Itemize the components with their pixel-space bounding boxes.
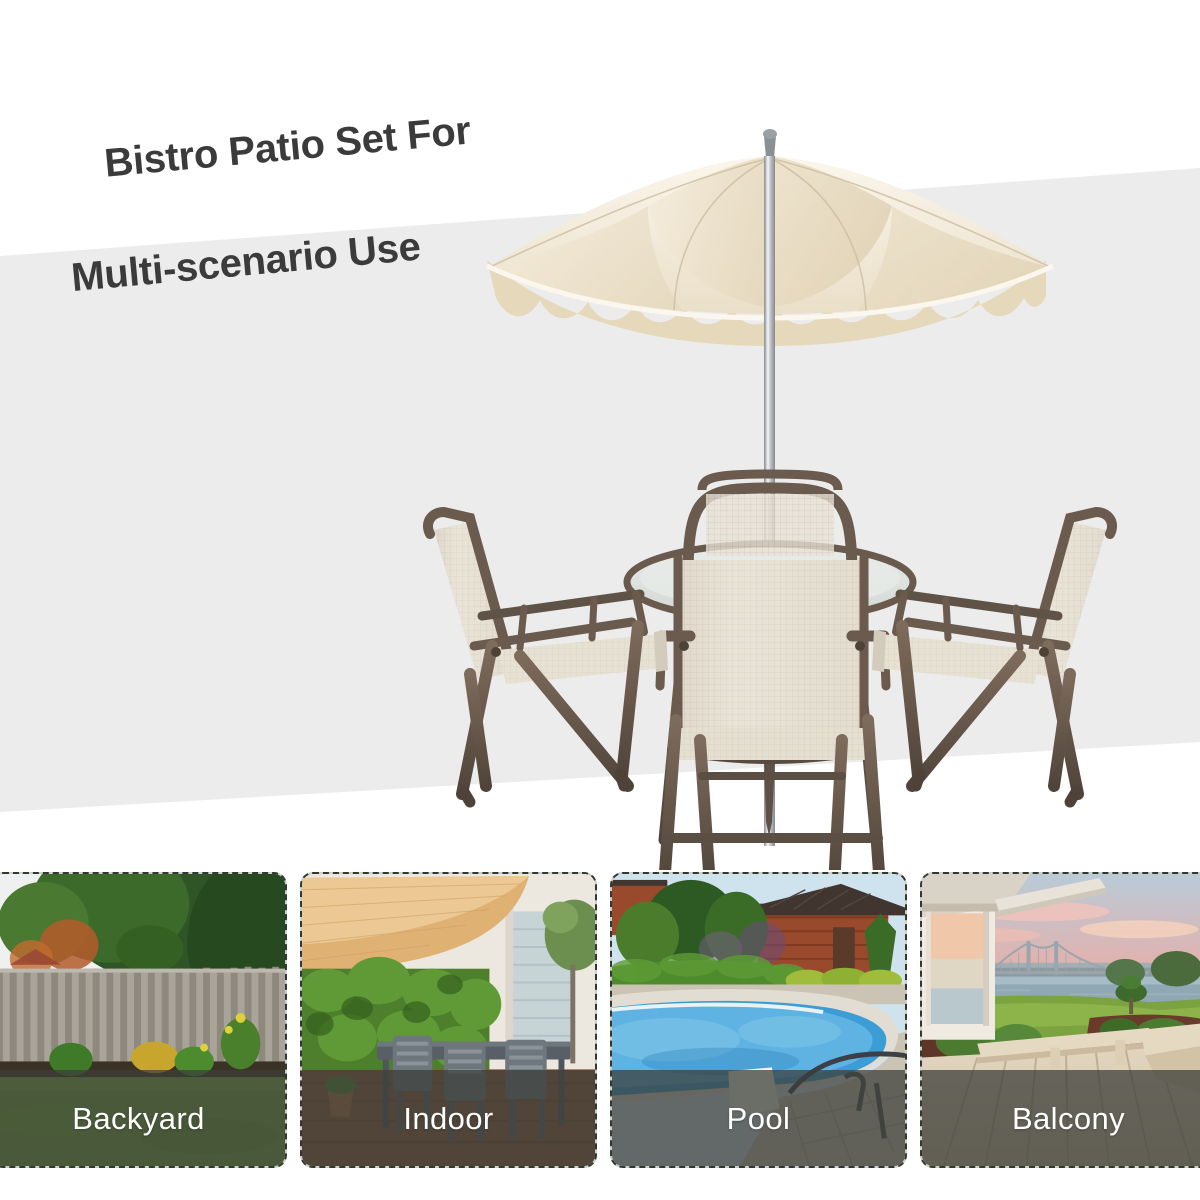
page-title: Bistro Patio Set For Multi-scenario Use [54,49,493,416]
poster-canvas: Bistro Patio Set For Multi-scenario Use [0,0,1200,1200]
headline-line-2: Multi-scenario Use [69,214,483,306]
balcony-label-overlay: Balcony [922,1070,1200,1166]
thumbnail-label: Indoor [403,1103,493,1134]
thumbnail-balcony[interactable]: Balcony [920,872,1200,1168]
chair-right [872,512,1112,802]
indoor-label-overlay: Indoor [302,1070,595,1166]
thumbnail-pool[interactable]: Pool [610,872,907,1168]
chair-left [428,512,668,802]
pool-label-overlay: Pool [612,1070,905,1166]
thumbnail-label: Balcony [1012,1103,1125,1134]
thumbnail-backyard[interactable]: Backyard [0,872,287,1168]
thumbnail-indoor[interactable]: Indoor [300,872,597,1168]
thumbnail-label: Pool [727,1103,791,1134]
headline-line-1: Bistro Patio Set For [103,109,473,186]
backyard-label-overlay: Backyard [0,1070,285,1166]
thumbnail-label: Backyard [72,1103,204,1134]
scenario-thumbnail-strip: Backyard [0,872,1200,1168]
